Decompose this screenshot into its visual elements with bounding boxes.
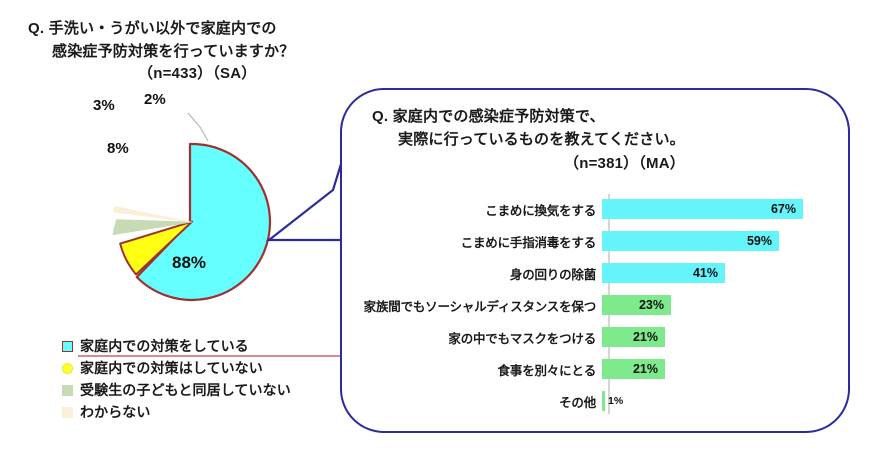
- legend-item-not-taking-measures: 家庭内での対策はしていない: [62, 357, 352, 379]
- page-title-line-2: 感染症予防対策を行っていますか？: [28, 41, 348, 64]
- bar-fill: 23%: [602, 295, 671, 315]
- callout-title: Q. 家庭内での感染症予防対策で、 実際に行っているものを教えてください。 （n…: [372, 105, 832, 175]
- pie-value-label-3: 3%: [93, 97, 115, 114]
- bar-chart: こまめに換気をする 67% こまめに手指消毒をする 59% 身の回りの除菌 41…: [355, 194, 835, 420]
- bar-row: 食事を別々にとる 21%: [355, 354, 835, 384]
- bar-category-label: こまめに手指消毒をする: [355, 232, 602, 251]
- callout-title-sample-size: （n=381）（MA）: [372, 152, 832, 175]
- page-title-line-1: Q. 手洗い・うがい以外で家庭内での: [28, 18, 348, 41]
- bar-category-label: 身の回りの除菌: [355, 264, 602, 283]
- legend-swatch-icon-yellow: [62, 363, 73, 374]
- bar-row: 身の回りの除菌 41%: [355, 258, 835, 288]
- bar-value-label: 1%: [608, 395, 623, 407]
- bar-category-label: 家の中でもマスクをつける: [355, 328, 602, 347]
- bar-track: 67%: [602, 199, 835, 219]
- bar-category-label: その他: [355, 392, 602, 411]
- bar-row: その他 1%: [355, 386, 835, 416]
- bar-track: 21%: [602, 359, 835, 379]
- legend-label: わからない: [80, 402, 151, 422]
- bar-category-label: こまめに換気をする: [355, 200, 602, 219]
- legend-item-taking-measures: 家庭内での対策をしている: [62, 335, 352, 357]
- bar-track: 23%: [602, 295, 835, 315]
- callout-pointer-shape: [269, 164, 347, 240]
- legend-item-no-exam-student: 受験生の子どもと同居していない: [62, 379, 352, 401]
- callout-title-line-1: Q. 家庭内での感染症予防対策で、: [372, 105, 832, 128]
- bar-value-label: 59%: [747, 234, 779, 248]
- legend-swatch-icon-cyan: [62, 341, 73, 352]
- bar-fill: 41%: [602, 263, 725, 283]
- bar-fill: 59%: [602, 231, 779, 251]
- bar-row: 家の中でもマスクをつける 21%: [355, 322, 835, 352]
- pie-value-label-2: 2%: [144, 91, 166, 108]
- legend-swatch-icon-green: [62, 385, 73, 396]
- bar-fill: 21%: [602, 359, 665, 379]
- pie-value-label-88: 88%: [172, 253, 206, 273]
- legend-label: 家庭内での対策をしている: [80, 336, 249, 356]
- legend-item-dont-know: わからない: [62, 401, 352, 423]
- bar-track: 1%: [602, 391, 835, 411]
- bar-row: こまめに換気をする 67%: [355, 194, 835, 224]
- legend-label: 家庭内での対策はしていない: [80, 358, 263, 378]
- bar-value-label: 21%: [633, 330, 665, 344]
- bar-track: 59%: [602, 231, 835, 251]
- bar-row: 家族間でもソーシャルディスタンスを保つ 23%: [355, 290, 835, 320]
- bar-value-label: 41%: [693, 266, 725, 280]
- bar-value-label: 67%: [771, 202, 803, 216]
- bar-value-label: 21%: [633, 362, 665, 376]
- bar-track: 41%: [602, 263, 835, 283]
- page-title: Q. 手洗い・うがい以外で家庭内での 感染症予防対策を行っていますか？ （n=4…: [28, 18, 348, 86]
- slide-canvas: Q. 手洗い・うがい以外で家庭内での 感染症予防対策を行っていますか？ （n=4…: [0, 0, 870, 459]
- callout-title-line-2: 実際に行っているものを教えてください。: [372, 128, 832, 151]
- bar-row: こまめに手指消毒をする 59%: [355, 226, 835, 256]
- bar-fill: 67%: [602, 199, 803, 219]
- bar-fill: 21%: [602, 327, 665, 347]
- pie-legend: 家庭内での対策をしている 家庭内での対策はしていない 受験生の子どもと同居してい…: [62, 335, 352, 423]
- bar-category-label: 家族間でもソーシャルディスタンスを保つ: [355, 296, 602, 315]
- legend-label: 受験生の子どもと同居していない: [80, 380, 291, 400]
- pie-value-label-8: 8%: [107, 140, 129, 157]
- page-title-sample-size: （n=433）（SA）: [28, 63, 348, 86]
- bar-value-label: 23%: [639, 298, 671, 312]
- legend-swatch-icon-cream: [62, 407, 73, 418]
- bar-fill: 1%: [602, 391, 605, 411]
- bar-track: 21%: [602, 327, 835, 347]
- pie-leader-line-2: [188, 113, 208, 141]
- bar-category-label: 食事を別々にとる: [355, 360, 602, 379]
